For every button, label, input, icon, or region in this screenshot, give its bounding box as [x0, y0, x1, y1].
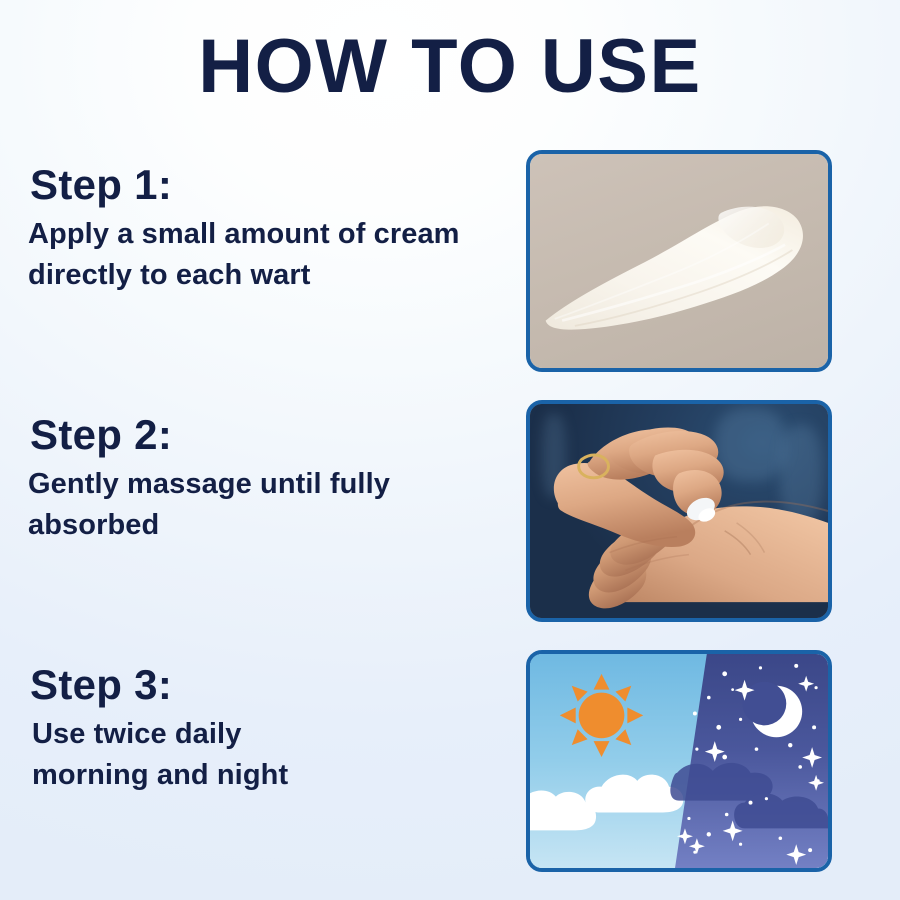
step-2-body-line-1: Gently massage until fully	[28, 464, 508, 505]
step-3-image-card	[526, 650, 832, 872]
day-night-illustration	[530, 654, 828, 868]
day-night-scene	[530, 654, 828, 868]
sun-icon	[560, 674, 643, 757]
step-3-heading: Step 3:	[30, 660, 508, 710]
step-2-image-card	[526, 400, 832, 622]
step-1-text-block: Step 1: Apply a small amount of cream di…	[28, 160, 508, 296]
hands-applying-cream-photo	[530, 404, 828, 618]
step-1-body-line-2: directly to each wart	[28, 255, 508, 296]
hands-illustration	[530, 404, 828, 618]
step-2-body-line-2: absorbed	[28, 505, 508, 546]
cream-smear-shape	[542, 197, 816, 338]
step-1-body-line-1: Apply a small amount of cream	[28, 214, 508, 255]
step-2-text-block: Step 2: Gently massage until fully absor…	[28, 410, 508, 546]
step-3-body-line-1: Use twice daily	[32, 714, 508, 755]
step-3-text-block: Step 3: Use twice daily morning and nigh…	[28, 660, 508, 796]
page-title: HOW TO USE	[0, 24, 900, 110]
cream-smear-photo	[530, 154, 828, 368]
step-1-image-card	[526, 150, 832, 372]
step-2-heading: Step 2:	[30, 410, 508, 460]
step-3-body-line-2: morning and night	[32, 755, 508, 796]
step-1-heading: Step 1:	[30, 160, 508, 210]
infographic-page: HOW TO USE Step 1: Apply a small amount …	[0, 0, 900, 900]
